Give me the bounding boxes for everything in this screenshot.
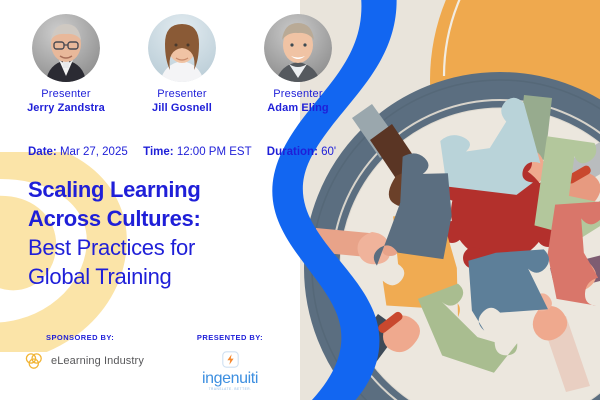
avatar <box>264 14 332 82</box>
duration-value: 60' <box>321 146 336 158</box>
presenter-card-1: Presenter Jerry Zandstra <box>8 14 124 116</box>
title-line-2: Across Cultures: <box>28 204 288 233</box>
elearning-industry-icon <box>24 351 44 371</box>
avatar <box>32 14 100 82</box>
sponsor-block: SPONSORED BY: eLearning Industry <box>24 333 164 371</box>
presenter-name: Jerry Zandstra <box>8 101 124 116</box>
date-label: Date: <box>28 146 57 158</box>
date-value: Mar 27, 2025 <box>60 146 128 158</box>
presented-by-label: PRESENTED BY: <box>170 333 290 342</box>
presenter-card-2: Presenter Jill Gosnell <box>124 14 240 116</box>
title-line-3: Best Practices for <box>28 233 288 262</box>
presenter-role: Presenter <box>240 88 356 101</box>
duration-label: Duration: <box>267 146 318 158</box>
webinar-title: Scaling Learning Across Cultures: Best P… <box>28 175 288 291</box>
presenter-list: Presenter Jerry Zandstra Presenter <box>8 14 356 116</box>
presenter-role: Presenter <box>8 88 124 101</box>
ingenuiti-logo[interactable]: ingenuiti TRANSLATE. BETTER. <box>170 351 290 391</box>
presenter-card-3: Presenter Adam Eling <box>240 14 356 116</box>
left-content-pane: Presenter Jerry Zandstra Presenter <box>0 0 300 400</box>
webinar-banner: Presenter Jerry Zandstra Presenter <box>0 0 600 400</box>
presenter-role: Presenter <box>124 88 240 101</box>
presenter-name: Adam Eling <box>240 101 356 116</box>
event-meta: Date: Mar 27, 2025 Time: 12:00 PM EST Du… <box>28 146 336 158</box>
ingenuiti-tagline: TRANSLATE. BETTER. <box>209 387 252 391</box>
lightning-bolt-icon <box>222 351 239 368</box>
title-line-4: Global Training <box>28 262 288 291</box>
title-line-1: Scaling Learning <box>28 175 288 204</box>
sponsored-by-label: SPONSORED BY: <box>24 333 164 342</box>
time-label: Time: <box>143 146 173 158</box>
elearning-industry-logo[interactable]: eLearning Industry <box>24 351 164 371</box>
ingenuiti-wordmark: ingenuiti <box>202 370 258 387</box>
elearning-industry-name: eLearning Industry <box>51 355 144 367</box>
avatar <box>148 14 216 82</box>
presenter-name: Jill Gosnell <box>124 101 240 116</box>
time-value: 12:00 PM EST <box>177 146 252 158</box>
presented-by-block: PRESENTED BY: ingenuiti TRANSLATE. BETTE… <box>170 333 290 391</box>
